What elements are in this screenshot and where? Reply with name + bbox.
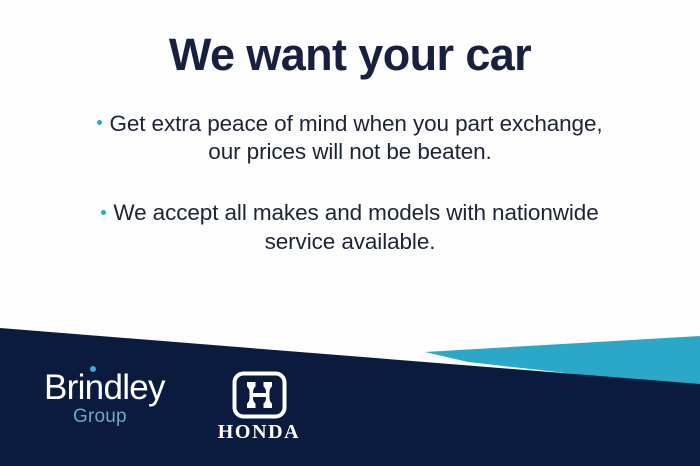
bullet-dot-icon [101,210,106,215]
teal-wedge-shape [425,336,700,388]
poster-content: We want your car Get extra peace of mind… [0,0,700,320]
list-item: Get extra peace of mind when you part ex… [90,110,610,168]
logo-lockup: Brindley Group HONDA [44,370,307,442]
page-title: We want your car [0,0,700,80]
bullet-dot-icon [97,120,102,125]
honda-h-emblem-icon [232,371,287,419]
list-item-label: Get extra peace of mind when you part ex… [109,111,602,165]
brindley-i-dot-icon [90,366,96,372]
benefits-list: Get extra peace of mind when you part ex… [0,110,700,257]
brindley-wordmark: Brindley [44,370,176,405]
honda-wordmark: HONDA [211,422,307,442]
list-item: We accept all makes and models with nati… [90,199,610,257]
brindley-group-label: Group [73,407,176,426]
honda-logo: HONDA [211,371,307,442]
brindley-group-logo: Brindley Group [44,370,176,426]
promo-poster: We want your car Get extra peace of mind… [0,0,700,466]
list-item-label: We accept all makes and models with nati… [113,200,598,254]
